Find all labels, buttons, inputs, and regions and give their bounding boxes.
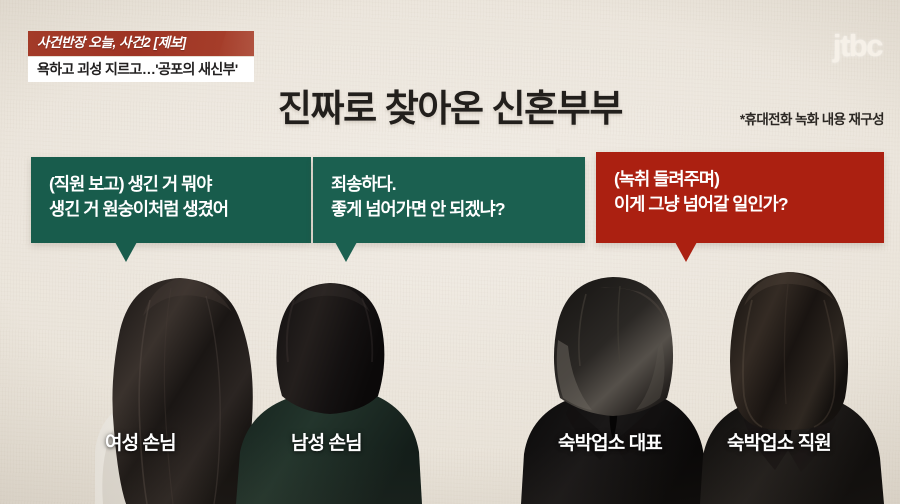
speech-bubble-apology: 죄송하다. 좋게 넘어가면 안 되겠냐? bbox=[313, 157, 585, 243]
jtbc-logo: jtbc bbox=[833, 30, 882, 61]
bubble-line: 좋게 넘어가면 안 되겠냐? bbox=[331, 197, 569, 222]
bubble-line: (직원 보고) 생긴 거 뭐야 bbox=[49, 172, 295, 197]
program-banner: 사건반장 오늘, 사건2 [제보] 욕하고 괴성 지르고…'공포의 새신부' bbox=[28, 31, 254, 82]
speech-bubble-recording: (녹취 들려주며) 이게 그냥 넘어갈 일인가? bbox=[596, 152, 884, 243]
bubble-tail bbox=[675, 242, 697, 262]
caption-male-guest: 남성 손님 bbox=[291, 428, 362, 455]
speech-bubble-guest-report: (직원 보고) 생긴 거 뭐야 생긴 거 원숭이처럼 생겼어 bbox=[31, 157, 311, 243]
bubble-tail bbox=[335, 242, 357, 262]
disclaimer-note: *휴대전화 녹화 내용 재구성 bbox=[740, 108, 884, 128]
bubble-line: 이게 그냥 넘어갈 일인가? bbox=[614, 192, 868, 217]
bubble-line: 죄송하다. bbox=[331, 172, 569, 197]
broadcast-graphic: jtbc 사건반장 오늘, 사건2 [제보] 욕하고 괴성 지르고…'공포의 새… bbox=[0, 0, 900, 504]
bubble-tail bbox=[115, 242, 137, 262]
caption-lodging-staff: 숙박업소 직원 bbox=[727, 428, 831, 455]
bubble-line: (녹취 들려주며) bbox=[614, 167, 868, 192]
bubble-line: 생긴 거 원숭이처럼 생겼어 bbox=[49, 197, 295, 222]
caption-female-guest: 여성 손님 bbox=[105, 428, 176, 455]
program-title-bar: 사건반장 오늘, 사건2 [제보] bbox=[28, 31, 254, 56]
caption-lodging-owner: 숙박업소 대표 bbox=[558, 428, 662, 455]
